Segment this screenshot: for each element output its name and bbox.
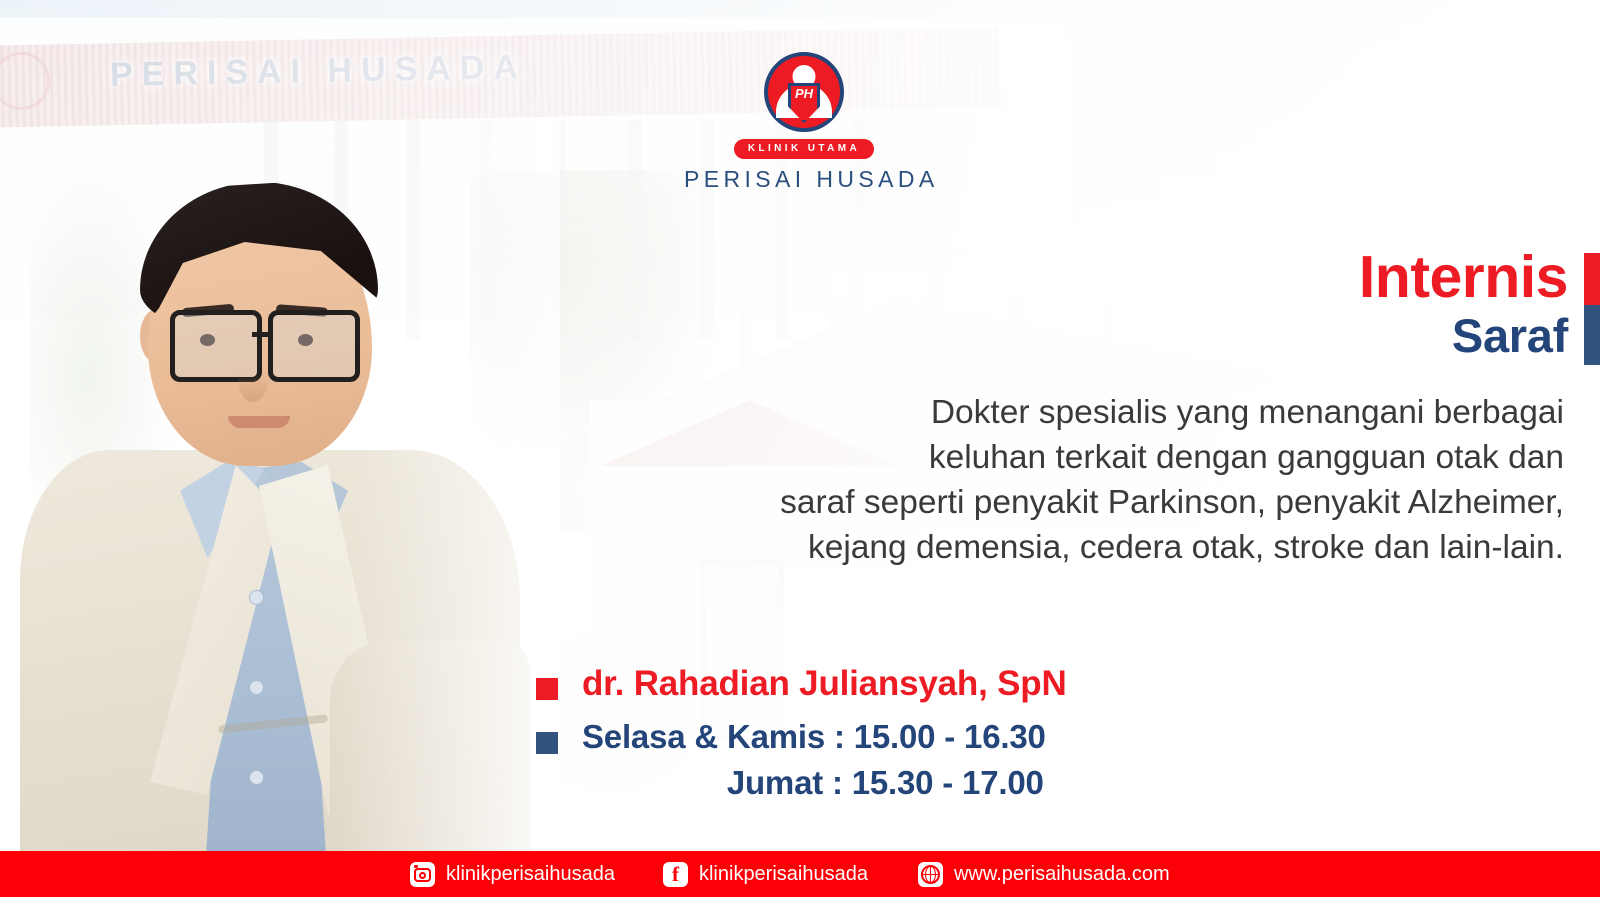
logo-initials: PH (795, 86, 813, 101)
instagram-label: klinikperisaihusada (446, 863, 615, 886)
schedule-line: Selasa & Kamis : 15.00 - 16.30 (582, 718, 1046, 756)
clinic-promo-banner: PERISAI HUSADA (0, 0, 1600, 897)
schedule-line: Jumat : 15.30 - 17.00 (582, 764, 1046, 802)
square-bullet-icon (536, 678, 558, 700)
accent-bar-red (1584, 253, 1600, 305)
accent-bar-navy (1584, 305, 1600, 365)
specialty-primary: Internis (1359, 248, 1568, 307)
specialty-description: Dokter spesialis yang menangani berbagai… (644, 390, 1564, 570)
accent-bar (1584, 253, 1600, 365)
doctor-info: dr. Rahadian Juliansyah, SpN Selasa & Ka… (536, 664, 1096, 802)
specialty-secondary: Saraf (1359, 307, 1568, 366)
doctor-name-row: dr. Rahadian Juliansyah, SpN (536, 664, 1096, 704)
shield-person-logo-icon: PH (764, 52, 844, 132)
doctor-name: dr. Rahadian Juliansyah, SpN (582, 664, 1067, 704)
instagram-icon (410, 862, 435, 887)
schedule-row: Selasa & Kamis : 15.00 - 16.30 Jumat : 1… (536, 718, 1096, 802)
facebook-icon: f (663, 862, 688, 887)
contact-footer: klinikperisaihusada f klinikperisaihusad… (0, 851, 1600, 897)
description-line: kejang demensia, cedera otak, stroke dan… (644, 525, 1564, 570)
logo-ribbon-label: KLINIK UTAMA (734, 139, 874, 159)
doctor-photo (0, 120, 560, 860)
brand-name: PERISAI HUSADA (684, 166, 924, 193)
brand-logo: PH KLINIK UTAMA PERISAI HUSADA (684, 52, 924, 193)
website-link[interactable]: www.perisaihusada.com (918, 862, 1170, 887)
facebook-handle[interactable]: f klinikperisaihusada (663, 862, 868, 887)
facebook-label: klinikperisaihusada (699, 863, 868, 886)
description-line: Dokter spesialis yang menangani berbagai (644, 390, 1564, 435)
specialty-heading: Internis Saraf (1359, 248, 1568, 366)
instagram-handle[interactable]: klinikperisaihusada (410, 862, 615, 887)
website-label: www.perisaihusada.com (954, 863, 1170, 886)
globe-icon (918, 862, 943, 887)
square-bullet-icon (536, 732, 558, 754)
photo-edge-fade (0, 120, 560, 860)
schedule-lines: Selasa & Kamis : 15.00 - 16.30 Jumat : 1… (582, 718, 1046, 802)
description-line: keluhan terkait dengan gangguan otak dan (644, 435, 1564, 480)
description-line: saraf seperti penyakit Parkinson, penyak… (644, 480, 1564, 525)
